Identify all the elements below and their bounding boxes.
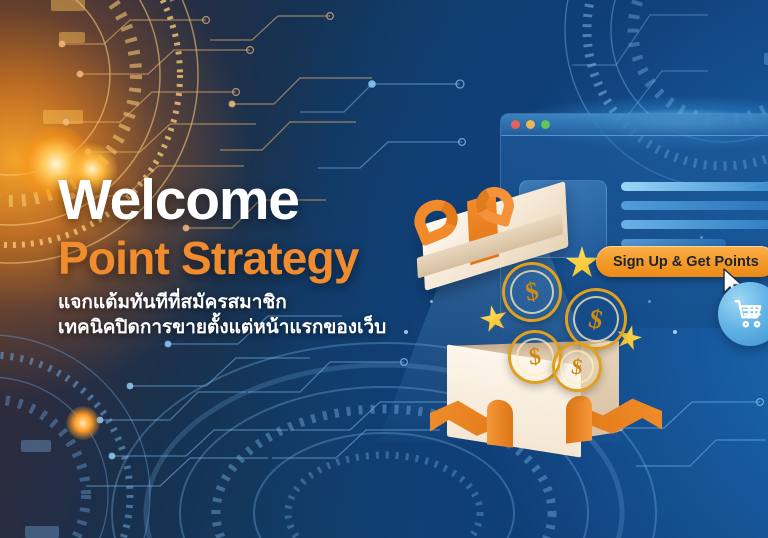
placeholder-line: [621, 182, 768, 191]
page-subtitle: Point Strategy: [58, 235, 478, 281]
ribbon-strap-left: [487, 398, 513, 447]
hud-ring-left-lower-icon: [0, 330, 155, 538]
shopping-cart-icon: [733, 297, 767, 331]
glow-spot-lower: [66, 406, 100, 440]
headline-block: Welcome Point Strategy แจกแต้มทันทีที่สม…: [58, 172, 478, 340]
promo-banner: $ $ $ $ Welcome Point Strategy แจกแต้มทั…: [0, 0, 768, 538]
description-line-2: เทคนิคปิดการขายตั้งแต่หน้าแรกของเว็บ: [58, 315, 478, 340]
placeholder-line: [621, 201, 768, 210]
sparkle-dot: [673, 330, 677, 334]
traffic-light-minimize-icon: [526, 120, 535, 129]
shopping-cart-button[interactable]: [718, 282, 768, 346]
traffic-light-close-icon: [511, 120, 520, 129]
page-title: Welcome: [58, 172, 478, 229]
ribbon-strap-right: [566, 394, 592, 443]
description-line-1: แจกแต้มทันทีที่สมัครสมาชิก: [58, 290, 478, 315]
placeholder-line: [621, 220, 768, 229]
traffic-light-maximize-icon: [541, 120, 550, 129]
browser-titlebar: [501, 114, 768, 136]
content-placeholder-lines: [621, 182, 768, 248]
